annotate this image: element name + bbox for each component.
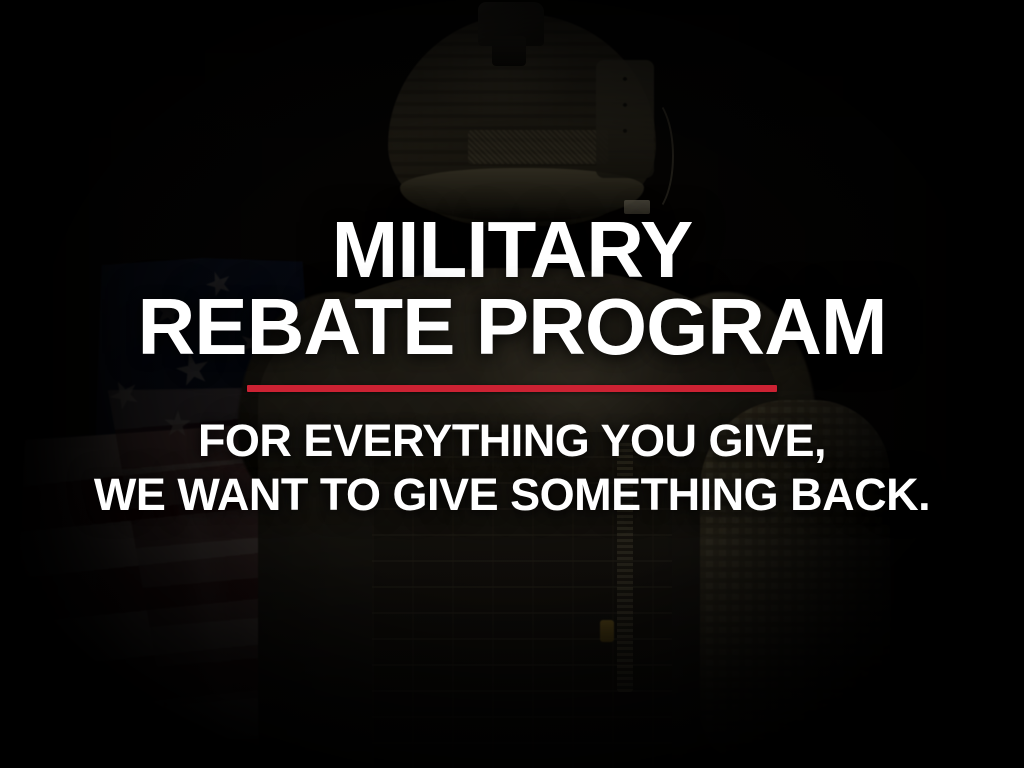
headline-line-1: MILITARY — [332, 212, 693, 289]
headline-line-2: REBATE PROGRAM — [138, 289, 887, 366]
red-rule — [247, 385, 777, 392]
subheadline: FOR EVERYTHING YOU GIVE, WE WANT TO GIVE… — [94, 414, 930, 524]
text-overlay: MILITARY REBATE PROGRAM FOR EVERYTHING Y… — [0, 0, 1024, 768]
military-rebate-banner: MILITARY REBATE PROGRAM FOR EVERYTHING Y… — [0, 0, 1024, 768]
subheadline-line-2: WE WANT TO GIVE SOMETHING BACK. — [94, 468, 930, 523]
subheadline-line-1: FOR EVERYTHING YOU GIVE, — [94, 414, 930, 469]
